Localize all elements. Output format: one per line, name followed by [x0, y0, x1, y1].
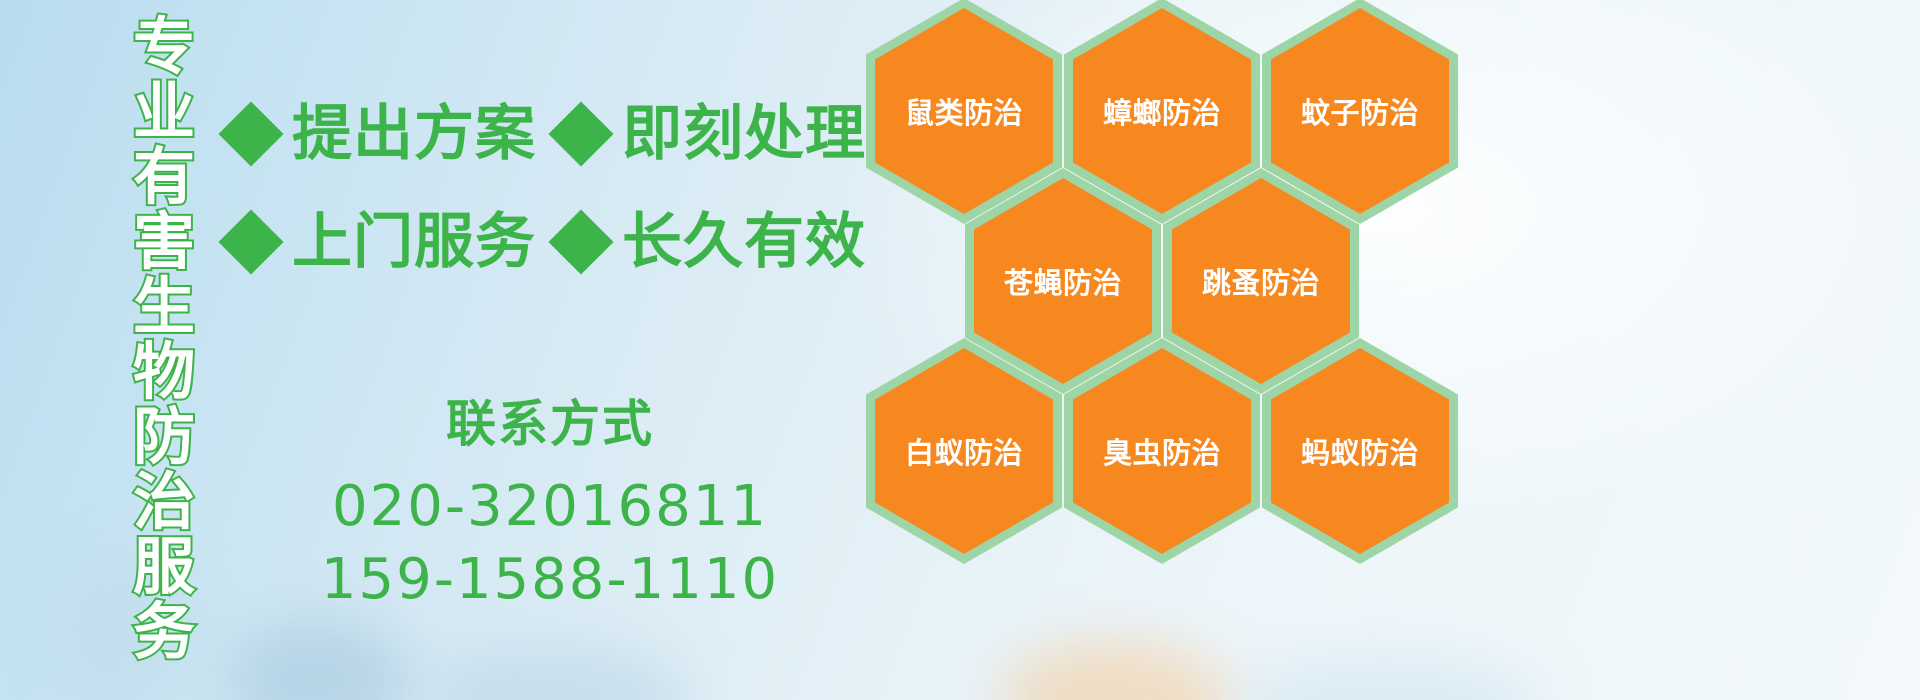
vertical-headline-char: 防 — [133, 404, 195, 469]
service-hex-label: 跳蚤防治 — [1202, 260, 1320, 302]
phone-number-landline[interactable]: 020-32016811 — [300, 470, 800, 544]
vertical-headline-char: 物 — [133, 339, 195, 404]
service-hex-label: 苍蝇防治 — [1004, 260, 1122, 302]
service-hex-label: 蟑螂防治 — [1103, 90, 1221, 132]
vertical-headline-char: 治 — [133, 469, 195, 534]
feature-label: 即刻处理 — [622, 104, 866, 164]
vertical-headline-char: 生 — [133, 274, 195, 339]
feature-label: 提出方案 — [292, 104, 536, 164]
feature-item-long-lasting: 长久有效 — [558, 212, 866, 272]
vertical-headline-char: 业 — [133, 79, 195, 144]
vertical-headline-char: 有 — [133, 144, 195, 209]
feature-row: 上门服务 长久有效 — [228, 188, 868, 296]
feature-label: 上门服务 — [292, 212, 536, 272]
feature-row: 提出方案 即刻处理 — [228, 80, 868, 188]
diamond-bullet-icon — [548, 101, 613, 166]
service-hex-label: 臭虫防治 — [1103, 430, 1221, 472]
background-blur-shape — [430, 645, 690, 700]
background-blur-shape — [230, 620, 410, 700]
vertical-headline: 专 业 有 害 生 物 防 治 服 务 — [112, 14, 216, 674]
service-hex-label: 白蚁防治 — [905, 430, 1023, 472]
service-hex-label: 蚂蚁防治 — [1301, 430, 1419, 472]
diamond-bullet-icon — [218, 209, 283, 274]
promo-banner: 专 业 有 害 生 物 防 治 服 务 提出方案 即刻处理 上门服务 — [0, 0, 1920, 700]
phone-number-mobile[interactable]: 159-1588-1110 — [300, 543, 800, 617]
service-hex-label: 蚊子防治 — [1301, 90, 1419, 132]
contact-block: 联系方式 020-32016811 159-1588-1110 — [300, 396, 800, 617]
feature-item-onsite-service: 上门服务 — [228, 212, 536, 272]
service-honeycomb: 鼠类防治 蟑螂防治 蚊子防治 苍蝇防治 跳蚤防治 白蚁防治 臭虫防治 蚂蚁 — [862, 0, 1462, 700]
service-hex-label: 鼠类防治 — [905, 90, 1023, 132]
feature-item-propose-plan: 提出方案 — [228, 104, 536, 164]
feature-label: 长久有效 — [622, 212, 866, 272]
feature-list: 提出方案 即刻处理 上门服务 长久有效 — [228, 80, 868, 296]
vertical-headline-char: 专 — [133, 14, 195, 79]
vertical-headline-char: 务 — [133, 599, 195, 664]
feature-item-immediate-action: 即刻处理 — [558, 104, 866, 164]
diamond-bullet-icon — [548, 209, 613, 274]
contact-heading: 联系方式 — [300, 396, 800, 454]
vertical-headline-char: 害 — [133, 209, 195, 274]
vertical-headline-char: 服 — [133, 534, 195, 599]
diamond-bullet-icon — [218, 101, 283, 166]
